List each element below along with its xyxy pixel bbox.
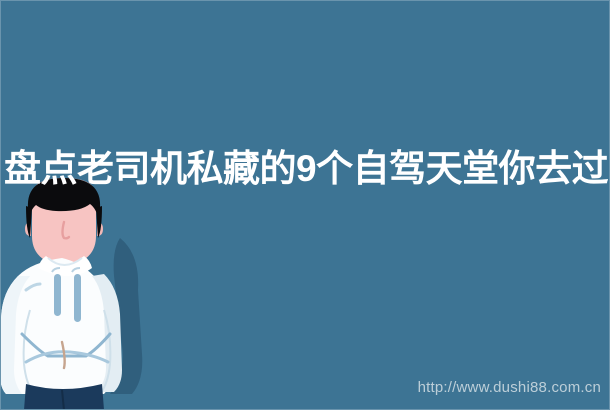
person-illustration [0, 178, 190, 410]
page-title: 盘点老司机私藏的9个自驾天堂你去过几条 [4, 148, 608, 192]
source-watermark: http://www.dushi88.com.cn [418, 379, 601, 396]
article-banner-image: 盘点老司机私藏的9个自驾天堂你去过几条 http://www.dushi88.c… [0, 0, 610, 410]
